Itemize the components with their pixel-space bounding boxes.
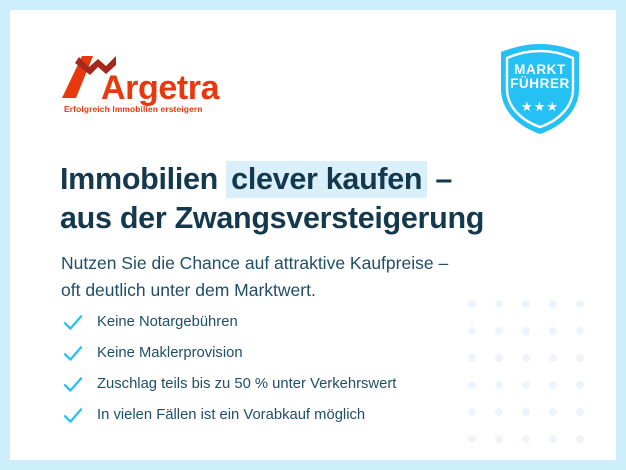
- badge-line-2: FÜHRER: [497, 77, 583, 91]
- list-item: In vielen Fällen ist ein Vorabkauf mögli…: [62, 400, 512, 431]
- dot: [576, 354, 584, 362]
- list-item: Keine Notargebühren: [62, 307, 512, 338]
- dot: [549, 327, 557, 335]
- dot-row: [468, 435, 608, 443]
- promo-card: Argetra Erfolgreich Immobilien ersteiger…: [10, 10, 616, 460]
- page-title: Immobilien clever kaufen – aus der Zwang…: [60, 160, 530, 238]
- headline-line-1: Immobilien clever kaufen –: [60, 160, 530, 199]
- argetra-logo[interactable]: Argetra Erfolgreich Immobilien ersteiger…: [62, 54, 252, 120]
- dot: [549, 354, 557, 362]
- benefit-label: In vielen Fällen ist ein Vorabkauf mögli…: [97, 408, 365, 423]
- benefit-label: Keine Maklerprovision: [97, 346, 243, 361]
- list-item: Keine Maklerprovision: [62, 338, 512, 369]
- headline-line-2: aus der Zwangsversteigerung: [60, 199, 530, 238]
- dot: [549, 408, 557, 416]
- dot: [576, 435, 584, 443]
- list-item: Zuschlag teils bis zu 50 % unter Verkehr…: [62, 369, 512, 400]
- dot: [576, 408, 584, 416]
- dot: [576, 327, 584, 335]
- check-icon: [62, 374, 84, 396]
- dot: [522, 408, 530, 416]
- headline-prefix: Immobilien: [60, 162, 226, 196]
- page-subtitle: Nutzen Sie die Chance auf attraktive Kau…: [61, 250, 541, 304]
- headline-suffix: –: [427, 162, 452, 196]
- market-leader-badge: MARKT FÜHRER ★★★: [497, 43, 583, 135]
- dot: [495, 435, 503, 443]
- dot: [522, 354, 530, 362]
- benefits-list: Keine NotargebührenKeine Maklerprovision…: [62, 307, 512, 431]
- dot: [522, 327, 530, 335]
- dot: [522, 381, 530, 389]
- logo-wordmark: Argetra: [101, 71, 219, 105]
- headline-highlight: clever kaufen: [226, 161, 427, 198]
- dot: [549, 300, 557, 308]
- benefit-label: Zuschlag teils bis zu 50 % unter Verkehr…: [97, 377, 396, 392]
- subtitle-line-2: oft deutlich unter dem Marktwert.: [61, 277, 541, 304]
- badge-text: MARKT FÜHRER: [497, 63, 583, 91]
- dot: [522, 435, 530, 443]
- check-icon: [62, 405, 84, 427]
- badge-line-1: MARKT: [497, 63, 583, 77]
- check-icon: [62, 343, 84, 365]
- dot: [576, 381, 584, 389]
- check-icon: [62, 312, 84, 334]
- dot: [549, 435, 557, 443]
- badge-stars: ★★★: [497, 99, 583, 115]
- logo-tagline: Erfolgreich Immobilien ersteigern: [64, 104, 203, 114]
- dot: [576, 300, 584, 308]
- dot: [549, 381, 557, 389]
- dot: [468, 435, 476, 443]
- benefit-label: Keine Notargebühren: [97, 315, 238, 330]
- subtitle-line-1: Nutzen Sie die Chance auf attraktive Kau…: [61, 250, 541, 277]
